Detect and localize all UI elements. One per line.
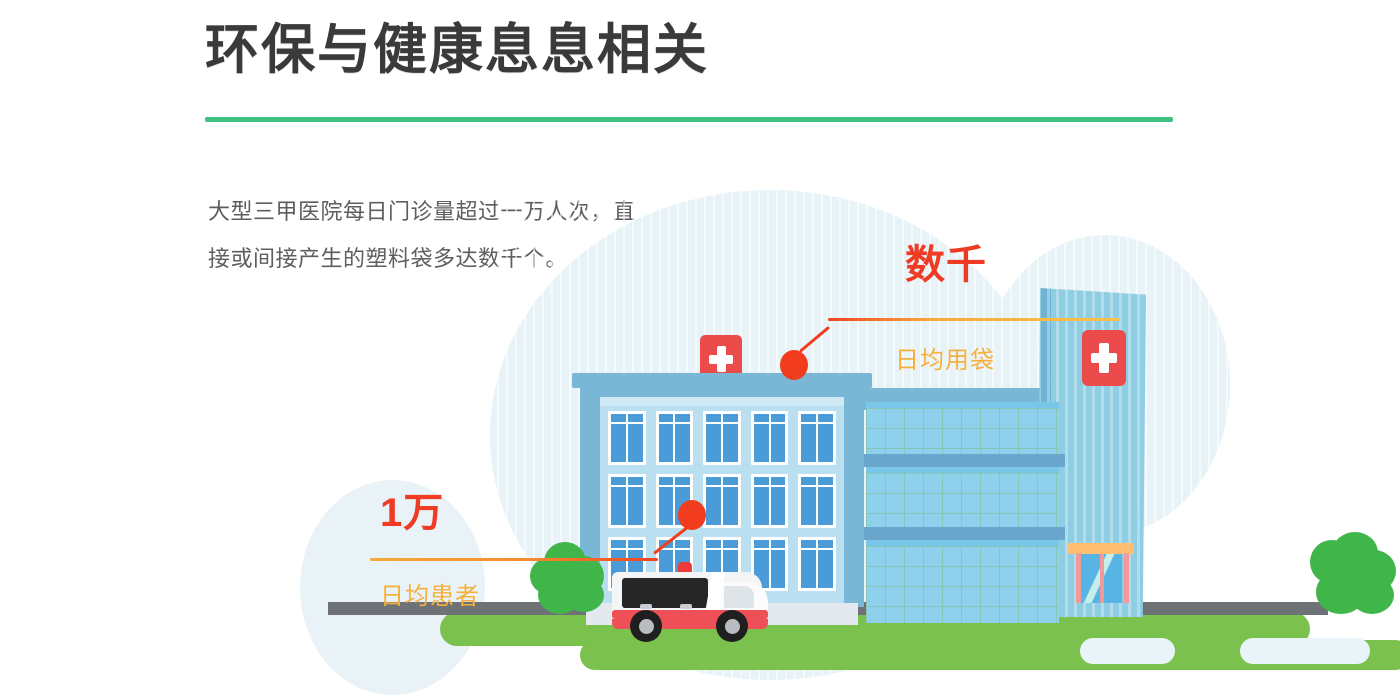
tower-entrance (1072, 543, 1130, 603)
header: 环保与健康息息相关 (205, 22, 1185, 79)
callout-bags-label: 日均用袋 (895, 340, 995, 375)
glass-curtain-wing (860, 402, 1065, 617)
callout-bags-stem (799, 326, 830, 353)
glass-floor-1 (866, 402, 1059, 460)
callout-bags: 数千 日均用袋 (770, 210, 1190, 390)
callout-patients-dot (678, 500, 706, 530)
callout-patients-stem (653, 526, 688, 554)
window (656, 411, 694, 465)
entrance-mullion (1100, 554, 1104, 603)
glass-floor-2 (866, 467, 1059, 533)
hospital-illustration: 数千 日均用袋 1万 日均患者 (290, 150, 1400, 700)
path-marker-2 (1240, 638, 1370, 664)
window (798, 474, 836, 528)
callout-bags-value: 数千 (905, 232, 987, 290)
callout-patients: 1万 日均患者 (370, 480, 730, 640)
floor-slab-2 (860, 527, 1065, 540)
entrance-column-right (1124, 553, 1129, 603)
callout-patients-label: 日均患者 (380, 576, 480, 611)
slide-canvas: 环保与健康息息相关 大型三甲医院每日门诊量超过一万人次，直接或间接产生的塑料袋多… (0, 0, 1400, 700)
path-marker-1 (1080, 638, 1175, 664)
tree-right (1310, 532, 1396, 616)
callout-bags-leader-line (828, 318, 1120, 321)
callout-bags-dot (780, 350, 808, 380)
floor-slab-1 (860, 454, 1065, 467)
building-facade-highlight (600, 397, 844, 406)
callout-patients-leader-line (370, 558, 658, 561)
entrance-column-left (1076, 553, 1081, 603)
callout-patients-value: 1万 (380, 480, 444, 538)
window (751, 474, 789, 528)
window (608, 411, 646, 465)
page-title: 环保与健康息息相关 (205, 22, 1185, 79)
window (751, 411, 789, 465)
window (798, 411, 836, 465)
title-underline (205, 117, 1173, 122)
window (703, 411, 741, 465)
window (798, 537, 836, 591)
glass-floor-3 (866, 540, 1059, 623)
